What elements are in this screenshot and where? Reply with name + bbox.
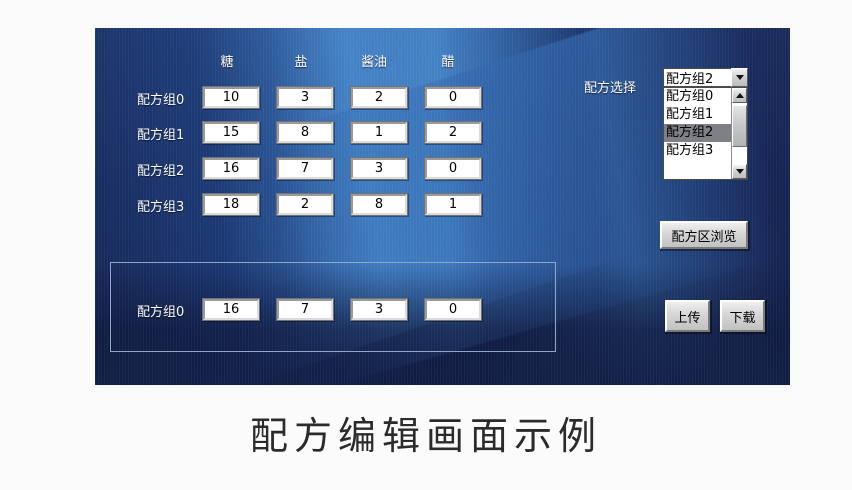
- field-recipe3-vinegar[interactable]: 1: [425, 194, 481, 215]
- row-label-recipe-3: 配方组3: [137, 201, 184, 214]
- recipe-combo-dropdown-button[interactable]: [731, 68, 748, 87]
- field-recipe0-soy-sauce[interactable]: 2: [351, 87, 407, 108]
- recipe-list-scrollbar[interactable]: [731, 88, 747, 179]
- field-recipe1-soy-sauce[interactable]: 1: [351, 122, 407, 143]
- field-recipe0-vinegar[interactable]: 0: [425, 87, 481, 108]
- recipe-option-3[interactable]: 配方组3: [664, 142, 731, 160]
- row-label-recipe-1: 配方组1: [137, 129, 184, 142]
- field-recipe3-sugar[interactable]: 18: [203, 194, 259, 215]
- row-label-recipe-2: 配方组2: [137, 165, 184, 178]
- upload-button[interactable]: 上传: [665, 300, 710, 332]
- recipe-select-label: 配方选择: [584, 82, 636, 95]
- scroll-up-button[interactable]: [732, 88, 747, 103]
- chevron-down-icon: [736, 169, 744, 174]
- field-recipe0-sugar[interactable]: 10: [203, 87, 259, 108]
- chevron-down-icon: [736, 75, 744, 80]
- preview-field-salt[interactable]: 7: [277, 299, 333, 320]
- field-recipe2-soy-sauce[interactable]: 3: [351, 158, 407, 179]
- field-recipe2-vinegar[interactable]: 0: [425, 158, 481, 179]
- column-header-sugar: 糖: [197, 56, 257, 69]
- recipe-select-widget[interactable]: 配方组2 配方组0 配方组1 配方组2 配方组3: [663, 68, 748, 180]
- recipe-area-browse-button[interactable]: 配方区浏览: [660, 221, 748, 249]
- recipe-option-list[interactable]: 配方组0 配方组1 配方组2 配方组3: [663, 87, 748, 180]
- field-recipe1-sugar[interactable]: 15: [203, 122, 259, 143]
- field-recipe2-salt[interactable]: 7: [277, 158, 333, 179]
- recipe-combo-box[interactable]: 配方组2: [663, 68, 748, 87]
- row-label-recipe-0: 配方组0: [137, 94, 184, 107]
- scroll-down-button[interactable]: [732, 164, 747, 179]
- field-recipe3-soy-sauce[interactable]: 8: [351, 194, 407, 215]
- scrollbar-track[interactable]: [732, 103, 747, 164]
- recipe-option-list-items: 配方组0 配方组1 配方组2 配方组3: [664, 88, 731, 179]
- hmi-screen: 糖 盐 酱油 醋 配方组0 10 3 2 0 配方组1 15 8 1 2 配方组…: [95, 28, 790, 385]
- column-header-vinegar: 醋: [418, 56, 478, 69]
- column-header-soy-sauce: 酱油: [344, 56, 404, 69]
- preview-row-label: 配方组0: [137, 306, 184, 319]
- figure-caption: 配方编辑画面示例: [0, 405, 852, 460]
- recipe-option-2[interactable]: 配方组2: [664, 124, 731, 142]
- field-recipe1-salt[interactable]: 8: [277, 122, 333, 143]
- recipe-option-0[interactable]: 配方组0: [664, 88, 731, 106]
- recipe-combo-selected-value: 配方组2: [663, 68, 731, 87]
- field-recipe3-salt[interactable]: 2: [277, 194, 333, 215]
- column-header-salt: 盐: [271, 56, 331, 69]
- preview-field-vinegar[interactable]: 0: [425, 299, 481, 320]
- download-button[interactable]: 下载: [720, 300, 765, 332]
- field-recipe0-salt[interactable]: 3: [277, 87, 333, 108]
- field-recipe2-sugar[interactable]: 16: [203, 158, 259, 179]
- preview-field-soy-sauce[interactable]: 3: [351, 299, 407, 320]
- chevron-up-icon: [736, 93, 744, 98]
- recipe-option-1[interactable]: 配方组1: [664, 106, 731, 124]
- field-recipe1-vinegar[interactable]: 2: [425, 122, 481, 143]
- scrollbar-thumb[interactable]: [732, 105, 747, 147]
- preview-field-sugar[interactable]: 16: [203, 299, 259, 320]
